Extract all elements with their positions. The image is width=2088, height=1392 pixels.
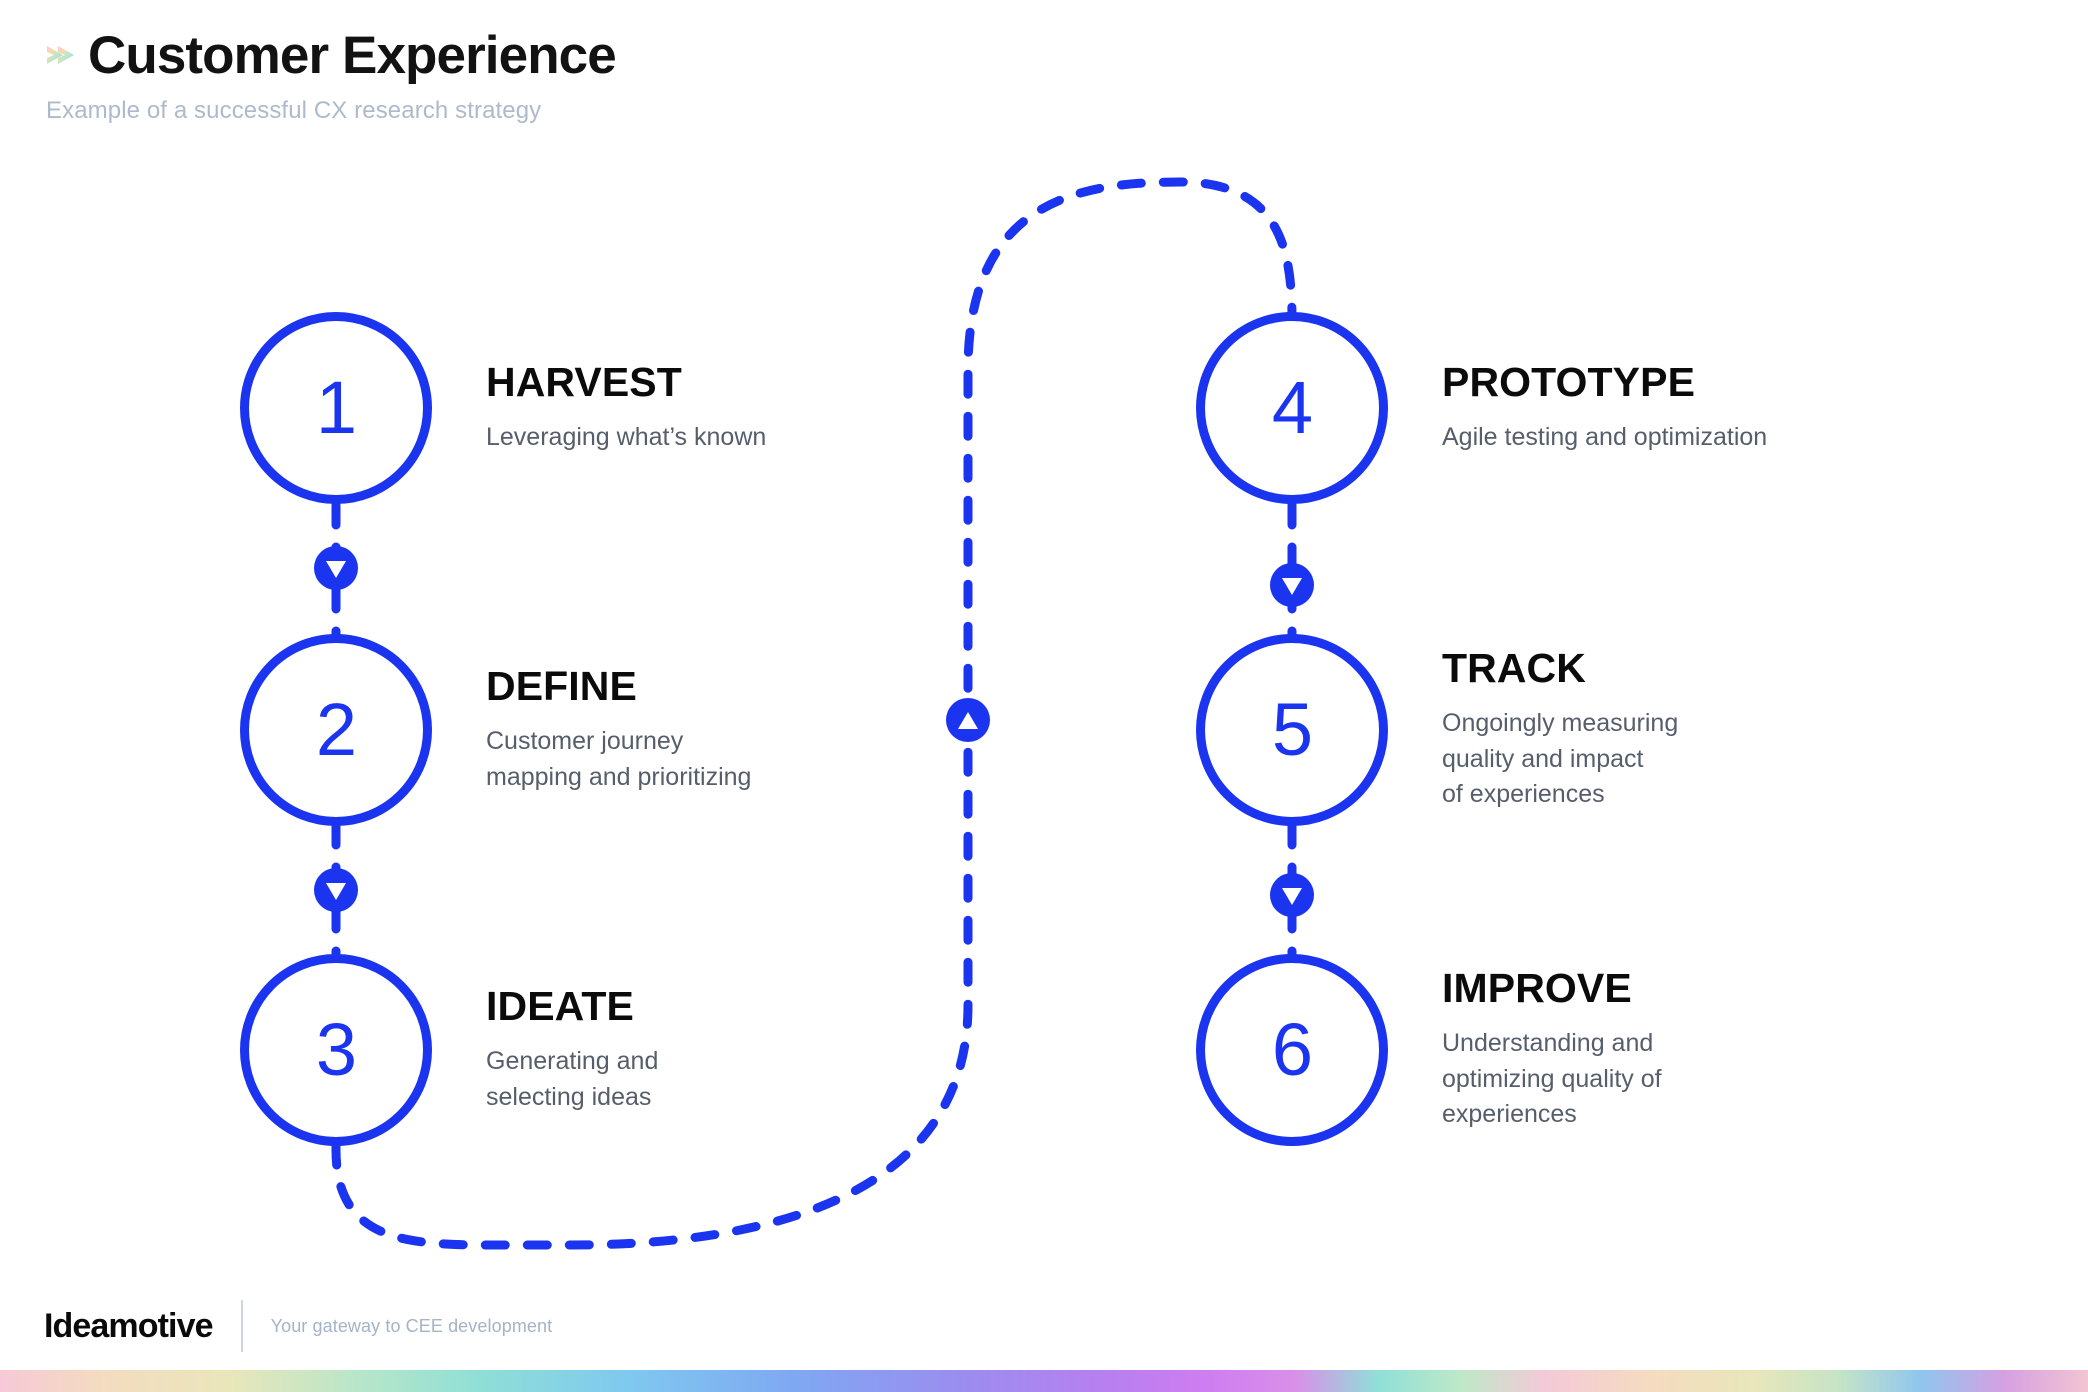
arrow-marker-1-2 (314, 546, 358, 590)
ideamotive-logo: Ideamotive (44, 1307, 213, 1346)
step-title-1: HARVEST (486, 361, 766, 404)
step-description-3: Generating and selecting ideas (486, 1044, 658, 1115)
arrow-marker-3-4 (946, 698, 990, 742)
step-circle-5: 5 (1196, 634, 1388, 826)
arrow-marker-2-3 (314, 868, 358, 912)
step-circle-4: 4 (1196, 312, 1388, 504)
step-text-4: PROTOTYPE Agile testing and optimization (1442, 361, 1767, 456)
step-number-5: 5 (1272, 693, 1312, 767)
footer-divider (241, 1300, 243, 1352)
step-description-4: Agile testing and optimization (1442, 420, 1767, 456)
step-item-2[interactable]: 2 DEFINE Customer journey mapping and pr… (240, 634, 751, 826)
step-number-1: 1 (316, 371, 356, 445)
step-item-4[interactable]: 4 PROTOTYPE Agile testing and optimizati… (1196, 312, 1767, 504)
step-item-6[interactable]: 6 IMPROVE Understanding and optimizing q… (1196, 954, 1662, 1146)
step-title-5: TRACK (1442, 647, 1678, 690)
step-title-6: IMPROVE (1442, 967, 1662, 1010)
step-description-5: Ongoingly measuring quality and impact o… (1442, 706, 1678, 813)
process-diagram: 1 HARVEST Leveraging what’s known 2 DEFI… (0, 0, 2088, 1330)
step-item-3[interactable]: 3 IDEATE Generating and selecting ideas (240, 954, 658, 1146)
step-item-1[interactable]: 1 HARVEST Leveraging what’s known (240, 312, 766, 504)
step-text-2: DEFINE Customer journey mapping and prio… (486, 665, 751, 795)
step-title-2: DEFINE (486, 665, 751, 708)
step-text-5: TRACK Ongoingly measuring quality and im… (1442, 647, 1678, 813)
step-text-3: IDEATE Generating and selecting ideas (486, 985, 658, 1115)
step-description-1: Leveraging what’s known (486, 420, 766, 456)
step-item-5[interactable]: 5 TRACK Ongoingly measuring quality and … (1196, 634, 1678, 826)
step-circle-1: 1 (240, 312, 432, 504)
step-title-3: IDEATE (486, 985, 658, 1028)
step-title-4: PROTOTYPE (1442, 361, 1767, 404)
footer-tagline: Your gateway to CEE development (271, 1316, 553, 1337)
step-text-6: IMPROVE Understanding and optimizing qua… (1442, 967, 1662, 1133)
step-number-3: 3 (316, 1013, 356, 1087)
bottom-gradient-bar (0, 1370, 2088, 1392)
step-description-2: Customer journey mapping and prioritizin… (486, 724, 751, 795)
step-circle-2: 2 (240, 634, 432, 826)
step-number-2: 2 (316, 693, 356, 767)
arrow-marker-5-6 (1270, 873, 1314, 917)
step-description-6: Understanding and optimizing quality of … (1442, 1026, 1662, 1133)
step-number-4: 4 (1272, 371, 1312, 445)
step-number-6: 6 (1272, 1013, 1312, 1087)
page-footer: Ideamotive Your gateway to CEE developme… (44, 1300, 552, 1352)
step-circle-3: 3 (240, 954, 432, 1146)
arrow-marker-4-5 (1270, 563, 1314, 607)
step-circle-6: 6 (1196, 954, 1388, 1146)
step-text-1: HARVEST Leveraging what’s known (486, 361, 766, 456)
